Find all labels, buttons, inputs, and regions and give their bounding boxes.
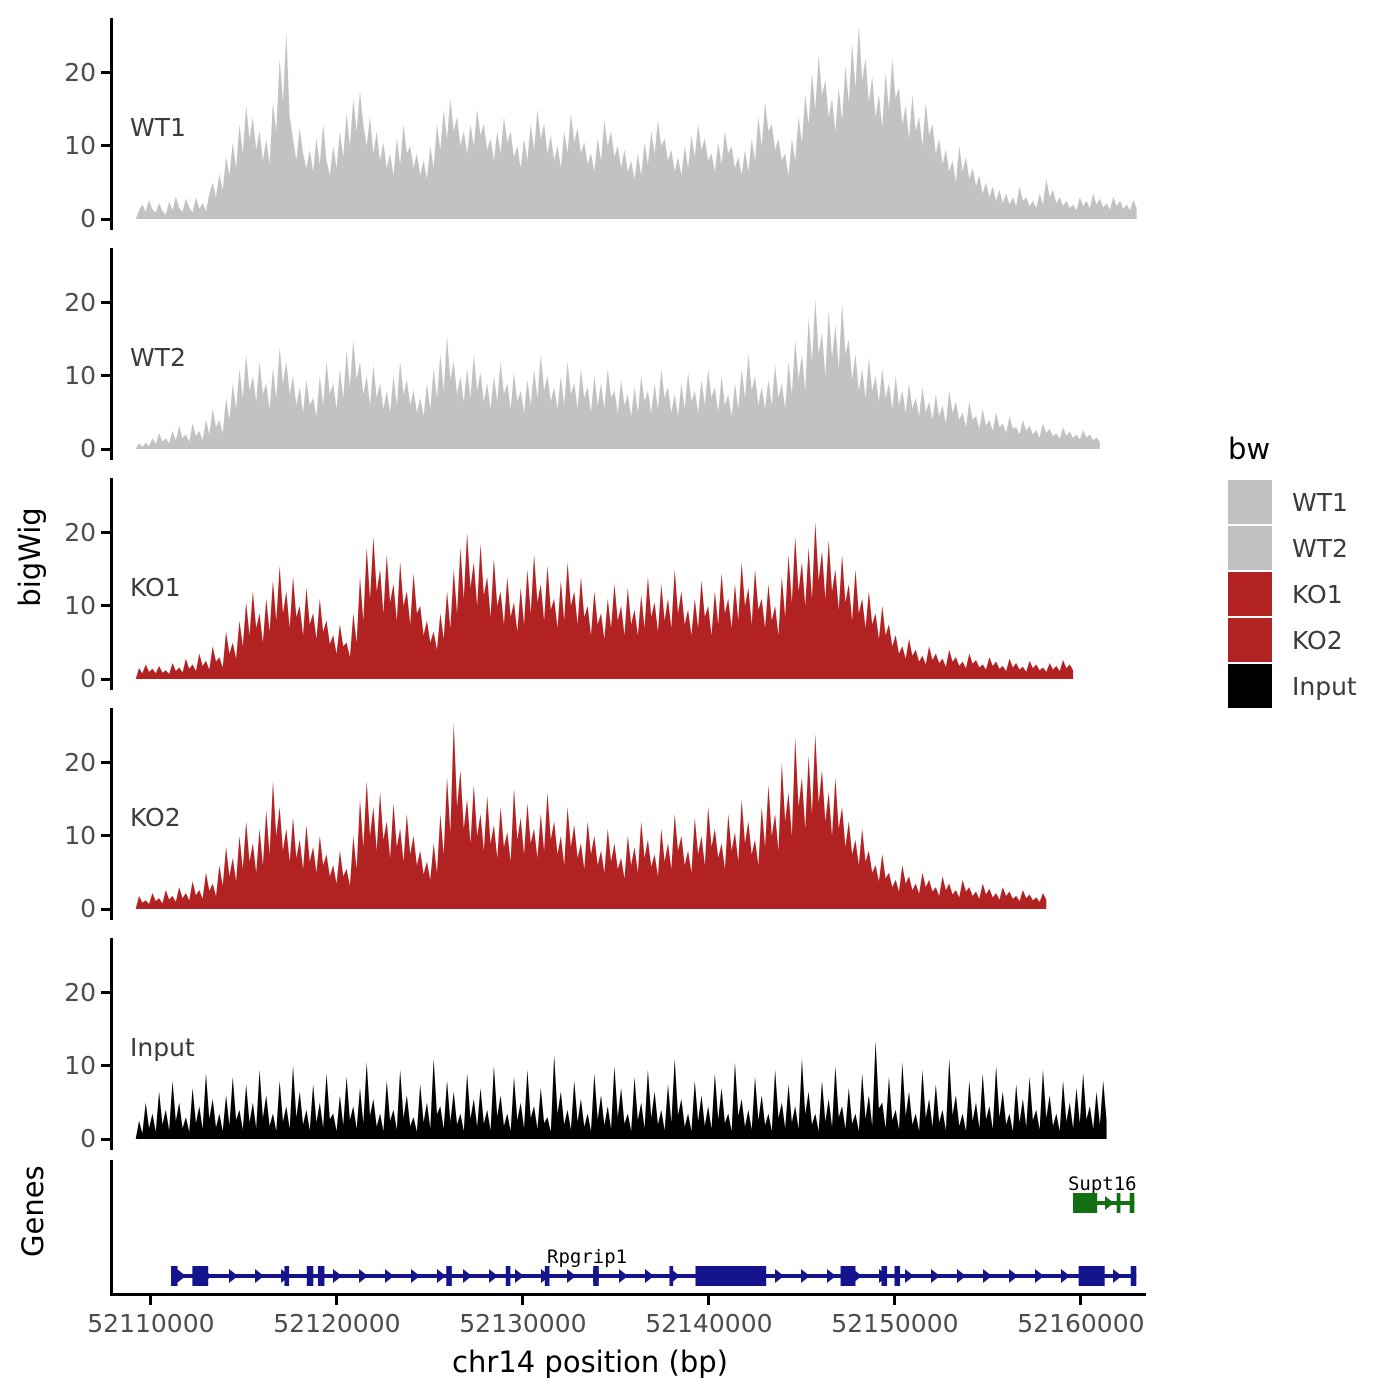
y-axis-title-genes: Genes [16, 1167, 50, 1257]
y-tick [101, 991, 110, 994]
y-tick [101, 71, 110, 74]
y-tick [101, 834, 110, 837]
legend-items: WT1WT2KO1KO2Input [1228, 480, 1357, 708]
legend-item-ko2[interactable]: KO2 [1228, 618, 1357, 662]
y-tick-label: 0 [80, 436, 96, 461]
legend-swatch-wt1 [1228, 480, 1272, 524]
legend: bw WT1WT2KO1KO2Input [1228, 432, 1357, 710]
y-tick [101, 374, 110, 377]
gene-model-supt16 [1073, 1190, 1134, 1216]
x-tick-label: 52110000 [87, 1309, 214, 1338]
legend-label-ko1: KO1 [1292, 580, 1343, 609]
legend-label-wt1: WT1 [1292, 488, 1348, 517]
legend-label-wt2: WT2 [1292, 534, 1348, 563]
legend-swatch-ko2 [1228, 618, 1272, 662]
y-tick-label: 0 [80, 1126, 96, 1151]
track-panel-ko1: 01020KO1 [110, 478, 1146, 690]
y-tick-label: 10 [64, 363, 96, 388]
legend-item-wt1[interactable]: WT1 [1228, 480, 1357, 524]
y-tick-label: 20 [64, 750, 96, 775]
x-tick-label: 52130000 [459, 1309, 586, 1338]
y-tick [101, 218, 110, 221]
y-tick-label: 20 [64, 980, 96, 1005]
x-axis-title: chr14 position (bp) [0, 1345, 1180, 1379]
y-tick [101, 908, 110, 911]
y-tick-label: 20 [64, 290, 96, 315]
y-tick-label: 10 [64, 593, 96, 618]
x-tick [149, 1296, 152, 1305]
y-tick [101, 448, 110, 451]
x-tick [521, 1296, 524, 1305]
track-panel-input: 01020Input [110, 938, 1146, 1150]
x-tick-label: 52150000 [831, 1309, 958, 1338]
legend-swatch-ko1 [1228, 572, 1272, 616]
y-axis-title-bigwig: bigWig [13, 497, 47, 617]
y-tick-label: 20 [64, 520, 96, 545]
y-tick-label: 20 [64, 60, 96, 85]
y-tick-label: 10 [64, 823, 96, 848]
y-tick [101, 604, 110, 607]
track-panel-wt1: 01020WT1 [110, 18, 1146, 230]
y-tick [101, 761, 110, 764]
track-panel-wt2: 01020WT2 [110, 248, 1146, 460]
legend-swatch-input [1228, 664, 1272, 708]
legend-item-wt2[interactable]: WT2 [1228, 526, 1357, 570]
y-tick [101, 1064, 110, 1067]
y-tick [101, 301, 110, 304]
x-tick [893, 1296, 896, 1305]
track-area-input [110, 938, 1146, 1150]
x-tick-label: 52160000 [1017, 1309, 1144, 1338]
x-tick-label: 52140000 [645, 1309, 772, 1338]
genes-axis-line [110, 1160, 113, 1293]
y-tick-label: 10 [64, 133, 96, 158]
x-axis-line [110, 1293, 1146, 1296]
gene-model-rpgrip1 [171, 1263, 1136, 1289]
x-tick [1079, 1296, 1082, 1305]
legend-label-input: Input [1292, 672, 1357, 701]
track-area-wt1 [110, 18, 1146, 230]
y-tick [101, 678, 110, 681]
y-tick-label: 0 [80, 896, 96, 921]
track-area-ko1 [110, 478, 1146, 690]
x-tick-label: 52120000 [273, 1309, 400, 1338]
legend-item-input[interactable]: Input [1228, 664, 1357, 708]
legend-swatch-wt2 [1228, 526, 1272, 570]
y-tick-label: 0 [80, 206, 96, 231]
y-tick [101, 531, 110, 534]
y-tick [101, 1138, 110, 1141]
y-tick [101, 144, 110, 147]
x-tick [707, 1296, 710, 1305]
y-tick-label: 10 [64, 1053, 96, 1078]
x-tick [335, 1296, 338, 1305]
legend-item-ko1[interactable]: KO1 [1228, 572, 1357, 616]
track-panel-ko2: 01020KO2 [110, 708, 1146, 920]
y-tick-label: 0 [80, 666, 96, 691]
track-area-ko2 [110, 708, 1146, 920]
legend-label-ko2: KO2 [1292, 626, 1343, 655]
track-area-wt2 [110, 248, 1146, 460]
legend-title: bw [1228, 432, 1357, 466]
